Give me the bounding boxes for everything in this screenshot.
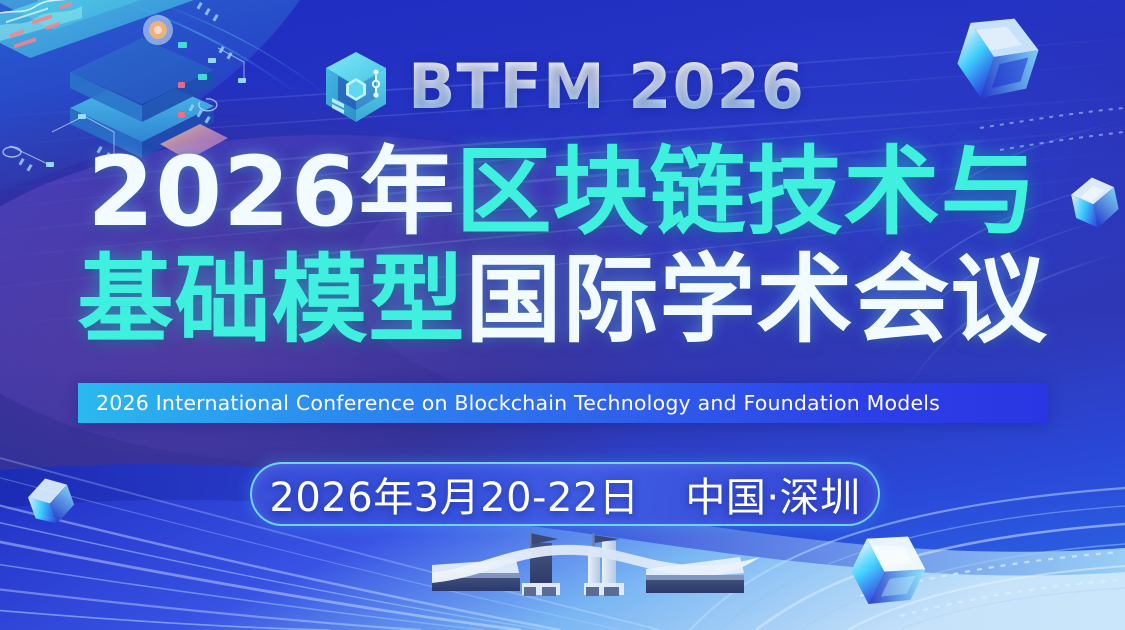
- english-subtitle: 2026 International Conference on Blockch…: [96, 391, 940, 415]
- conference-location: 中国·深圳: [685, 465, 860, 523]
- headline-line2-event: 国际学术会议: [466, 244, 1048, 356]
- brand-row: BTFM 2026: [0, 48, 1125, 126]
- headline-line-2: 基础模型国际学术会议: [0, 250, 1125, 352]
- headline-line2-topic: 基础模型: [78, 244, 466, 356]
- headline-line-1: 2026年区块链技术与: [0, 142, 1125, 244]
- wordmark: BTFM 2026: [408, 56, 805, 118]
- crystal-cube-icon: [836, 518, 936, 618]
- crystal-cube-icon: [16, 468, 82, 534]
- english-subtitle-bar: 2026 International Conference on Blockch…: [78, 383, 1048, 423]
- headline-line1-topic: 区块链技术与: [456, 136, 1038, 248]
- blockchain-hexagon-cube-icon: [320, 48, 392, 126]
- shenzhen-skyline-silhouette: [388, 521, 798, 611]
- headline: 2026年区块链技术与 基础模型国际学术会议: [0, 142, 1125, 352]
- conference-banner: BTFM 2026 2026年区块链技术与 基础模型国际学术会议 2026 In…: [0, 0, 1125, 630]
- date-location-pill: 2026年3月20-22日 中国·深圳: [250, 462, 880, 526]
- headline-line1-year: 2026年: [87, 136, 455, 248]
- conference-date: 2026年3月20-22日: [269, 465, 639, 523]
